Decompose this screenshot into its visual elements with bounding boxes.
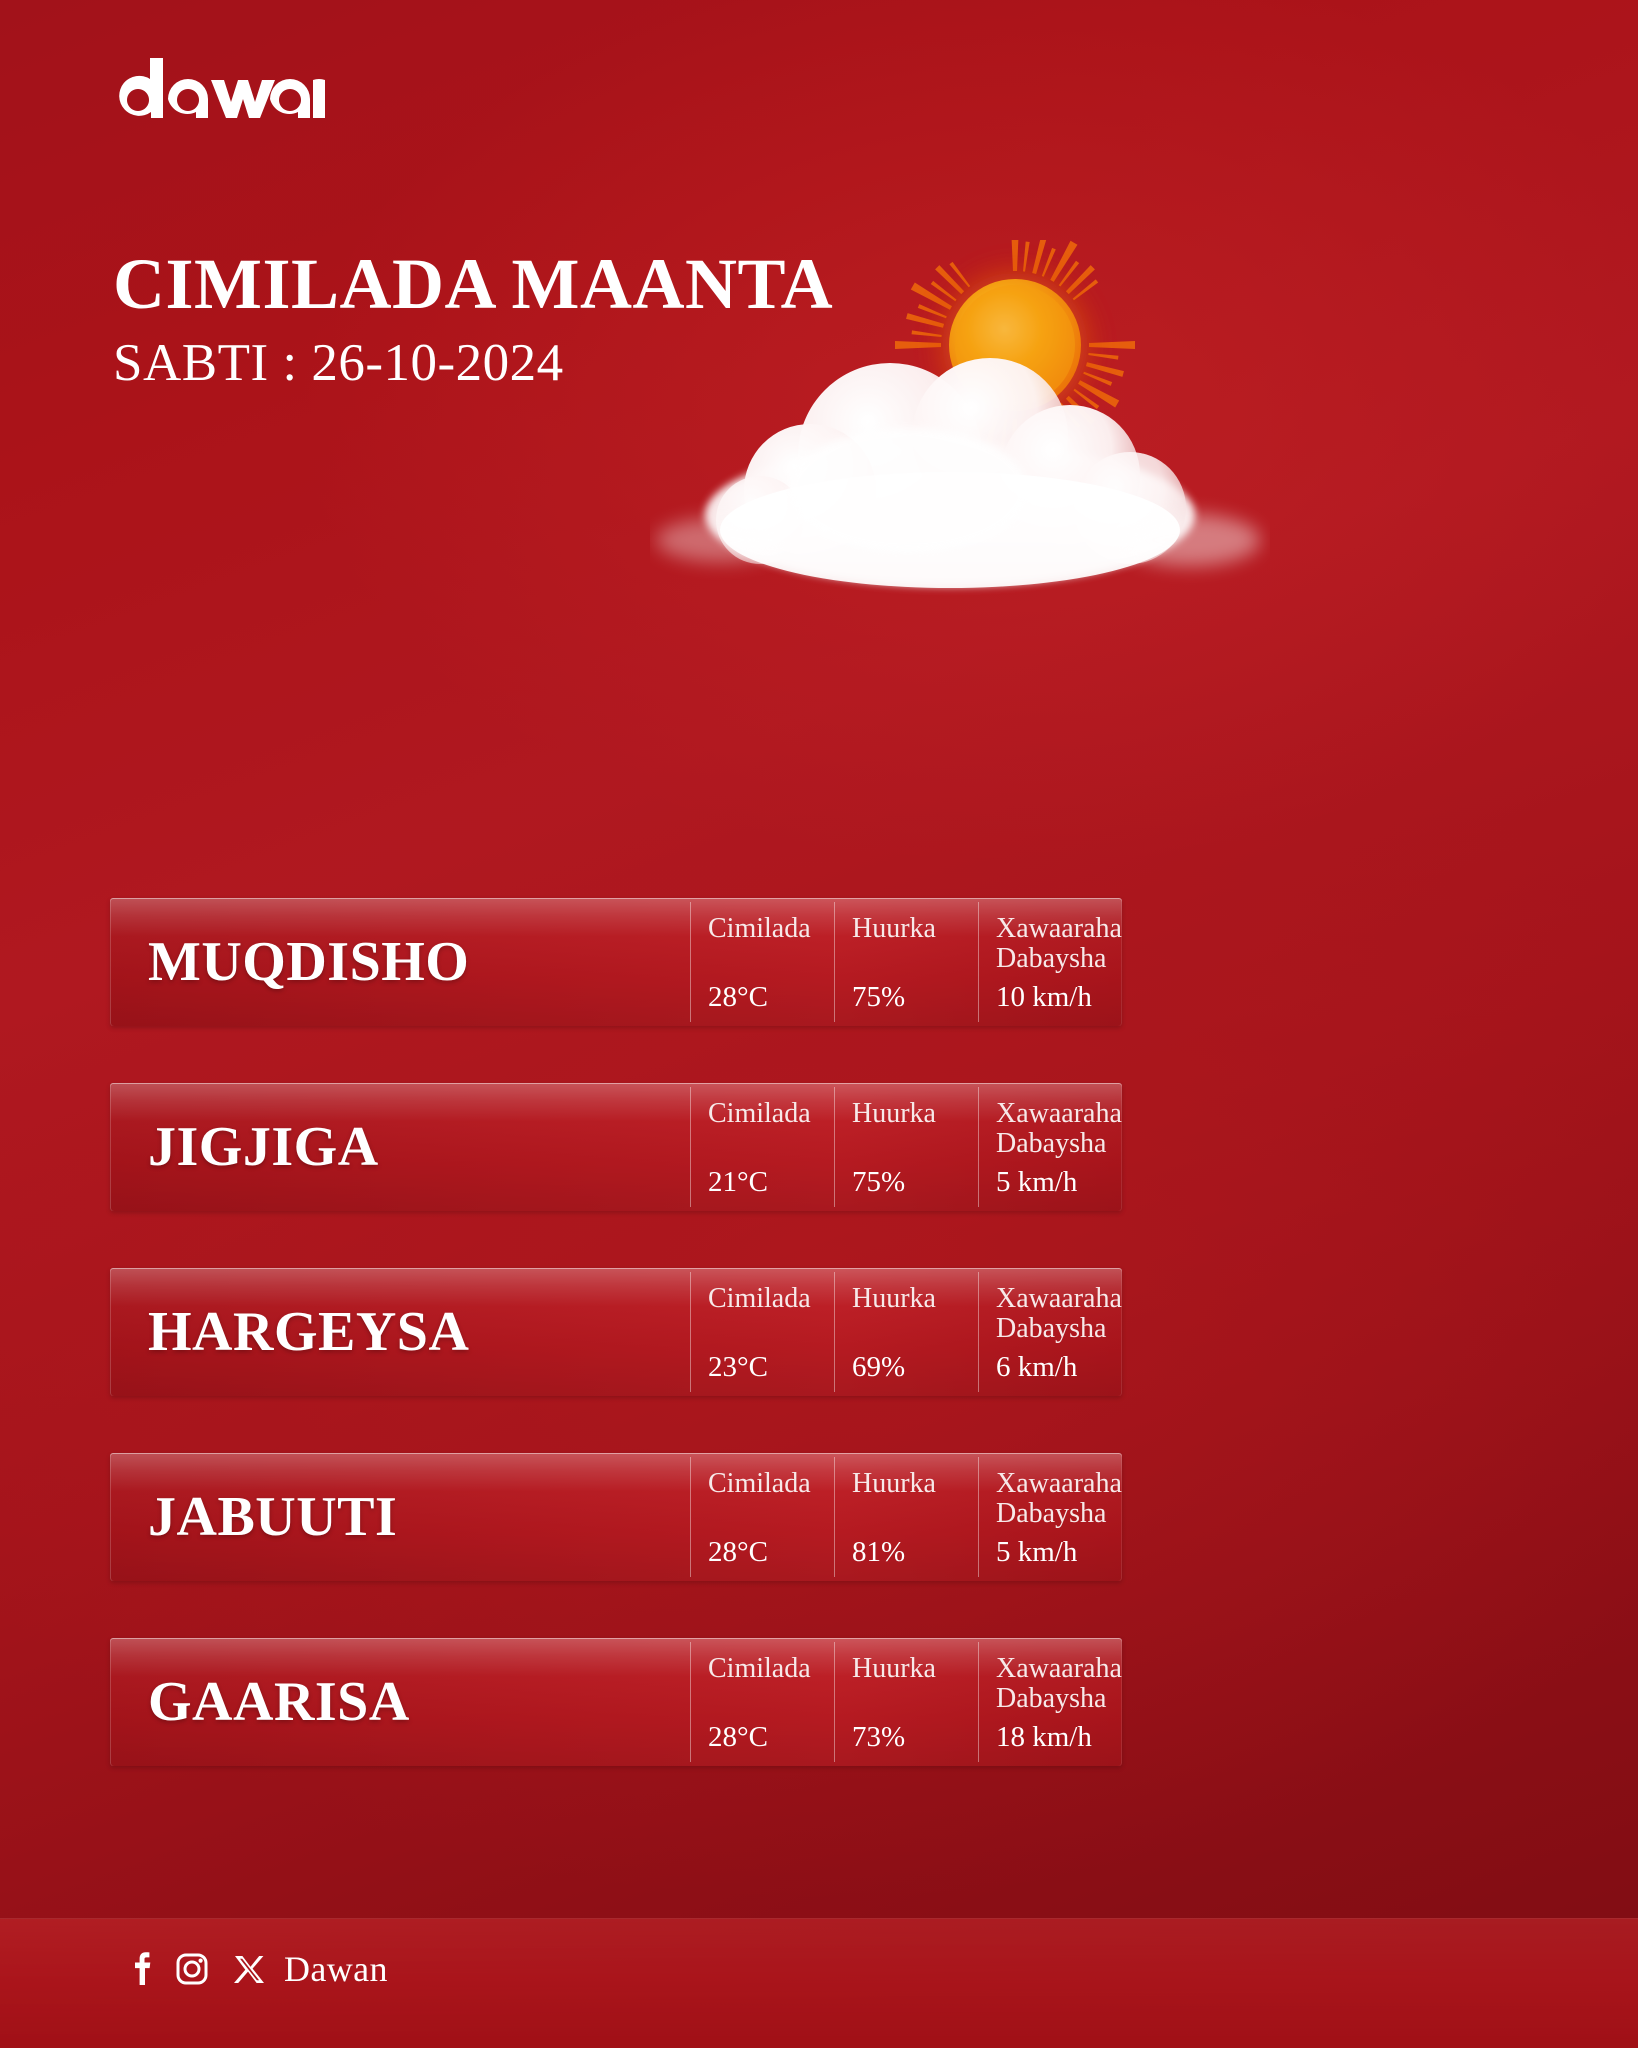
humidity-cell: Huurka 75% xyxy=(834,1083,978,1211)
table-row[interactable]: JIGJIGA Cimilada 21°C Huurka 75% Xawaara… xyxy=(110,1083,1122,1211)
city-cell: JIGJIGA xyxy=(110,1083,690,1211)
temperature-cell: Cimilada 23°C xyxy=(690,1268,834,1396)
temperature-value: 23°C xyxy=(708,1352,834,1382)
city-cell: JABUUTI xyxy=(110,1453,690,1581)
wind-value: 10 km/h xyxy=(996,982,1122,1012)
table-row[interactable]: HARGEYSA Cimilada 23°C Huurka 69% Xawaar… xyxy=(110,1268,1122,1396)
table-row[interactable]: JABUUTI Cimilada 28°C Huurka 81% Xawaara… xyxy=(110,1453,1122,1581)
humidity-value: 73% xyxy=(852,1722,978,1752)
date-line: SABTI : 26-10-2024 xyxy=(113,337,1013,390)
footer: Dawan xyxy=(128,1948,388,1990)
temperature-label: Cimilada xyxy=(708,1654,834,1684)
city-cell: MUQDISHO xyxy=(110,898,690,1026)
wind-cell: Xawaaraha Dabaysha 10 km/h xyxy=(978,898,1122,1026)
wind-label: Xawaaraha Dabaysha xyxy=(996,1099,1122,1159)
wind-cell: Xawaaraha Dabaysha 6 km/h xyxy=(978,1268,1122,1396)
humidity-cell: Huurka 81% xyxy=(834,1453,978,1581)
wind-label: Xawaaraha Dabaysha xyxy=(996,1469,1122,1529)
wind-value: 5 km/h xyxy=(996,1537,1122,1567)
city-name: JABUUTI xyxy=(148,1489,397,1545)
temperature-cell: Cimilada 28°C xyxy=(690,1453,834,1581)
temperature-value: 28°C xyxy=(708,1537,834,1567)
wind-value: 5 km/h xyxy=(996,1167,1122,1197)
humidity-label: Huurka xyxy=(852,914,978,944)
temperature-cell: Cimilada 28°C xyxy=(690,1638,834,1766)
temperature-label: Cimilada xyxy=(708,1099,834,1129)
table-row[interactable]: GAARISA Cimilada 28°C Huurka 73% Xawaara… xyxy=(110,1638,1122,1766)
temperature-value: 21°C xyxy=(708,1167,834,1197)
humidity-value: 75% xyxy=(852,1167,978,1197)
humidity-cell: Huurka 73% xyxy=(834,1638,978,1766)
humidity-cell: Huurka 75% xyxy=(834,898,978,1026)
temperature-label: Cimilada xyxy=(708,1284,834,1314)
temperature-value: 28°C xyxy=(708,982,834,1012)
city-name: HARGEYSA xyxy=(148,1304,469,1360)
wind-value: 18 km/h xyxy=(996,1722,1122,1752)
city-name: MUQDISHO xyxy=(148,934,469,990)
humidity-value: 81% xyxy=(852,1537,978,1567)
x-twitter-icon[interactable] xyxy=(232,1949,266,1989)
humidity-value: 75% xyxy=(852,982,978,1012)
table-row[interactable]: MUQDISHO Cimilada 28°C Huurka 75% Xawaar… xyxy=(110,898,1122,1026)
weather-table: MUQDISHO Cimilada 28°C Huurka 75% Xawaar… xyxy=(110,898,1122,1766)
wind-cell: Xawaaraha Dabaysha 18 km/h xyxy=(978,1638,1122,1766)
dawan-logo xyxy=(110,58,325,120)
headline-block: CIMILADA MAANTA SABTI : 26-10-2024 xyxy=(113,248,1013,390)
page-title: CIMILADA MAANTA xyxy=(113,248,1013,321)
temperature-value: 28°C xyxy=(708,1722,834,1752)
temperature-cell: Cimilada 21°C xyxy=(690,1083,834,1211)
wind-label: Xawaaraha Dabaysha xyxy=(996,1654,1122,1714)
city-name: JIGJIGA xyxy=(148,1119,379,1175)
humidity-value: 69% xyxy=(852,1352,978,1382)
temperature-cell: Cimilada 28°C xyxy=(690,898,834,1026)
dawan-wordmark-icon xyxy=(110,58,325,120)
humidity-label: Huurka xyxy=(852,1284,978,1314)
humidity-label: Huurka xyxy=(852,1469,978,1499)
wind-label: Xawaaraha Dabaysha xyxy=(996,914,1122,974)
city-name: GAARISA xyxy=(148,1674,410,1730)
wind-label: Xawaaraha Dabaysha xyxy=(996,1284,1122,1344)
temperature-label: Cimilada xyxy=(708,1469,834,1499)
humidity-label: Huurka xyxy=(852,1654,978,1684)
facebook-icon[interactable] xyxy=(128,1949,152,1989)
temperature-label: Cimilada xyxy=(708,914,834,944)
wind-cell: Xawaaraha Dabaysha 5 km/h xyxy=(978,1083,1122,1211)
weather-infographic-page: CIMILADA MAANTA SABTI : 26-10-2024 xyxy=(0,0,1638,2048)
footer-handle: Dawan xyxy=(284,1948,388,1990)
instagram-icon[interactable] xyxy=(174,1949,210,1989)
humidity-label: Huurka xyxy=(852,1099,978,1129)
wind-cell: Xawaaraha Dabaysha 5 km/h xyxy=(978,1453,1122,1581)
wind-value: 6 km/h xyxy=(996,1352,1122,1382)
city-cell: HARGEYSA xyxy=(110,1268,690,1396)
humidity-cell: Huurka 69% xyxy=(834,1268,978,1396)
city-cell: GAARISA xyxy=(110,1638,690,1766)
